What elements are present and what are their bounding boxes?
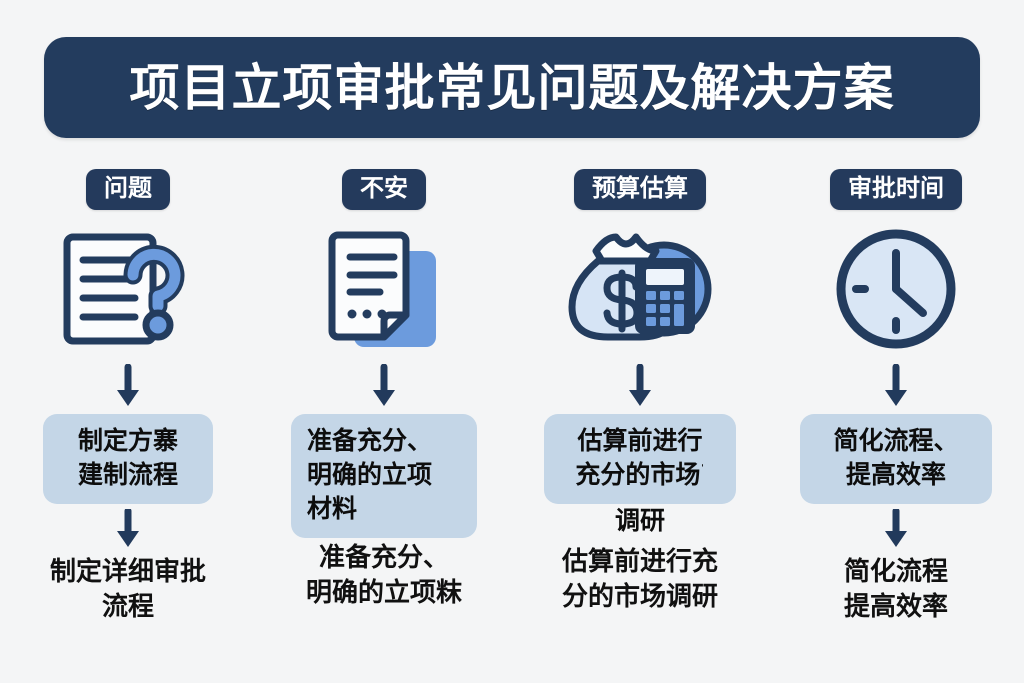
icon-document-question-wrap — [59, 226, 197, 352]
solution-line: 简化流程、 — [816, 424, 976, 458]
solution-line: 明确的立项 — [307, 458, 461, 492]
solution-overflow-line: 调研 — [544, 504, 736, 538]
arrow-down-icon — [113, 509, 143, 551]
solution-line: 材料 — [307, 492, 461, 526]
badge-approval-time: 审批时间 — [830, 169, 962, 210]
outcome-anxiety: 准备充分、 明确的立项粖 — [306, 540, 462, 609]
badge-problem: 问题 — [86, 169, 170, 210]
arrow-down-problem-1 — [113, 362, 143, 412]
page-title-banner: 项目立项审批常见问题及解决方案 — [44, 37, 980, 138]
arrow-down-approval-2 — [881, 508, 911, 552]
badge-anxiety: 不安 — [342, 169, 426, 210]
arrow-down-icon — [881, 364, 911, 410]
arrow-down-icon — [369, 364, 399, 410]
document-question-icon — [59, 227, 197, 351]
arrow-down-icon — [881, 509, 911, 551]
solution-line: 提高效率 — [816, 458, 976, 492]
solution-line-with-mark: 充分的市场ˈ — [560, 458, 720, 492]
page-title: 项目立项审批常见问题及解决方案 — [130, 63, 895, 113]
icon-document-stack-wrap — [322, 226, 446, 352]
arrow-down-icon — [625, 364, 655, 410]
column-approval-time: 审批时间 简化流程、 — [768, 160, 1024, 683]
icon-clock-wrap — [834, 226, 958, 352]
column-anxiety: 不安 — [256, 160, 512, 683]
arrow-down-problem-2 — [113, 508, 143, 552]
outcome-problem: 制定详细审批 流程 — [50, 554, 206, 623]
arrow-down-budget-1 — [625, 362, 655, 412]
money-bag-calculator-icon — [564, 227, 716, 351]
columns-container: 问题 — [0, 160, 1024, 683]
arrow-down-icon — [113, 364, 143, 410]
outcome-approval-time: 简化流程 提高效率 — [844, 554, 948, 623]
column-problem: 问题 — [0, 160, 256, 683]
solution-box-approval-time: 简化流程、 提高效率 — [800, 414, 992, 504]
infographic-canvas: 项目立项审批常见问题及解决方案 问题 — [0, 0, 1024, 683]
solution-line: 制定方寨 — [59, 424, 197, 458]
solution-box-anxiety: 准备充分、 明确的立项 材料 — [291, 414, 477, 538]
clock-icon — [834, 227, 958, 351]
arrow-down-approval-1 — [881, 362, 911, 412]
solution-line: 充分的市场 — [575, 461, 700, 489]
solution-line: 准备充分、 — [307, 424, 461, 458]
document-stack-icon — [322, 227, 446, 351]
solution-line: 建制流程 — [59, 458, 197, 492]
solution-box-budget: 估算前进行 充分的市场ˈ 调研 — [544, 414, 736, 504]
badge-budget: 预算估算 — [574, 169, 706, 210]
arrow-down-anxiety-1 — [369, 362, 399, 412]
icon-money-bag-calculator-wrap — [564, 226, 716, 352]
column-budget: 预算估算 — [512, 160, 768, 683]
solution-box-problem: 制定方寨 建制流程 — [43, 414, 213, 504]
superscript-mark: ˈ — [700, 462, 704, 477]
outcome-budget: 估算前进行充 分的市场调研 — [562, 544, 718, 613]
solution-line: 估算前进行 — [560, 424, 720, 458]
